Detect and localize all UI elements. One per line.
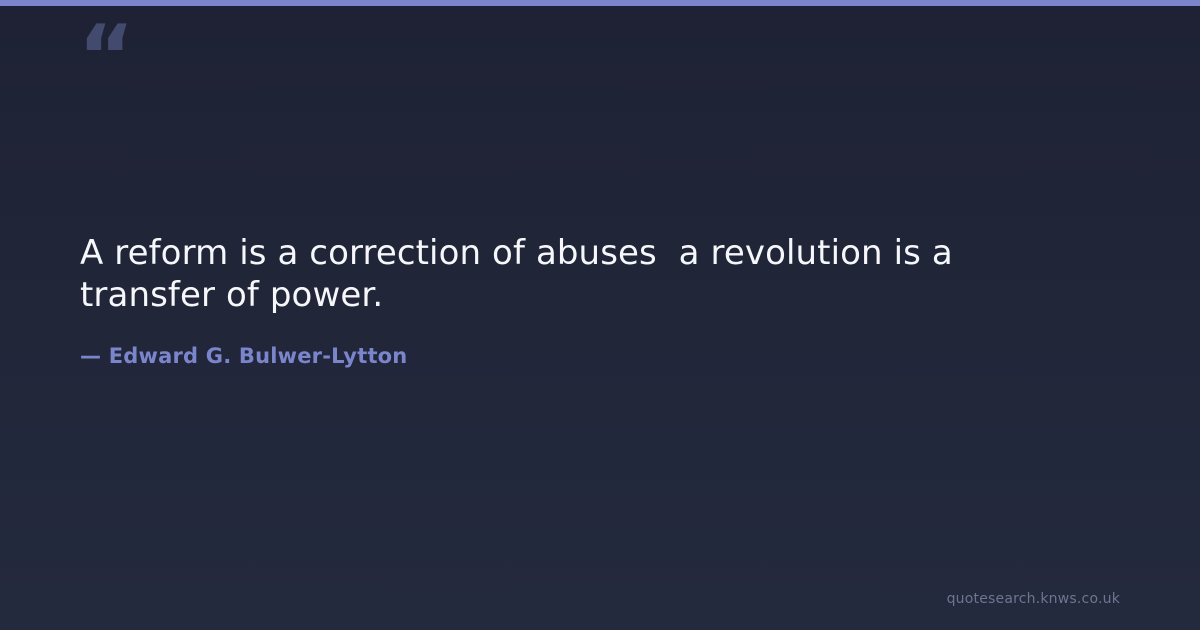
- quote-text: A reform is a correction of abuses a rev…: [80, 232, 1090, 316]
- quote-content: A reform is a correction of abuses a rev…: [80, 232, 1090, 370]
- site-watermark: quotesearch.knws.co.uk: [947, 590, 1120, 608]
- quotation-mark-icon: “: [78, 14, 133, 100]
- top-accent-bar: [0, 0, 1200, 6]
- quote-card: “ A reform is a correction of abuses a r…: [0, 0, 1200, 630]
- quote-author: — Edward G. Bulwer-Lytton: [80, 342, 1090, 370]
